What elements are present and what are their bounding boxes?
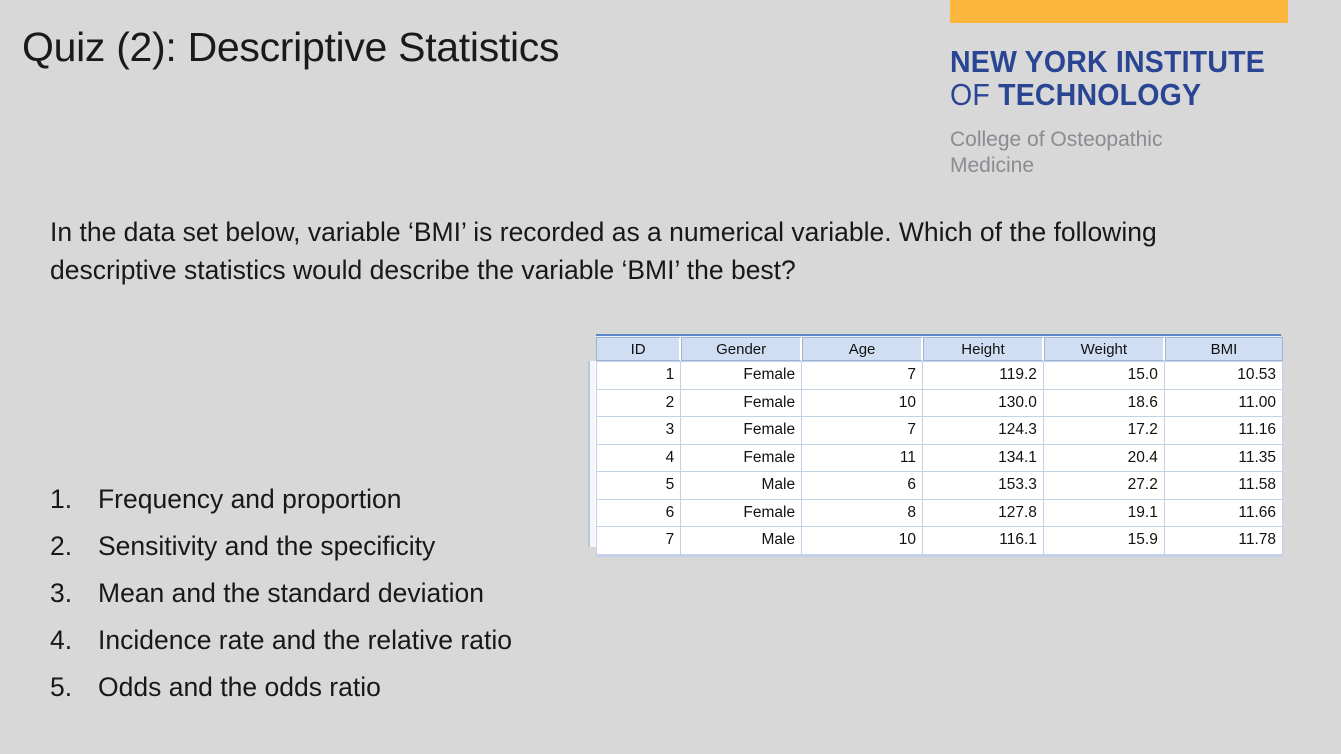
row-handle[interactable] xyxy=(588,520,596,547)
cell-id[interactable]: 7 xyxy=(596,527,681,555)
cell-height[interactable]: 153.3 xyxy=(923,472,1044,500)
cell-height[interactable]: 116.1 xyxy=(923,527,1044,555)
table-row[interactable]: 1 Female 7 119.2 15.0 10.53 xyxy=(596,361,1283,390)
cell-age[interactable]: 7 xyxy=(802,417,923,445)
option-number: 2. xyxy=(50,531,98,562)
table-row[interactable]: 6 Female 8 127.8 19.1 11.66 xyxy=(596,500,1283,528)
cell-weight[interactable]: 15.0 xyxy=(1044,361,1165,390)
cell-height[interactable]: 119.2 xyxy=(923,361,1044,390)
cell-gender[interactable]: Female xyxy=(681,500,802,528)
logo-subtitle: College of Osteopathic Medicine xyxy=(950,127,1240,179)
option-label: Odds and the odds ratio xyxy=(98,672,690,703)
row-handle[interactable] xyxy=(588,467,596,494)
cell-weight[interactable]: 20.4 xyxy=(1044,445,1165,473)
data-table-panel: ID Gender Age Height Weight BMI 1 Female… xyxy=(588,334,1283,560)
cell-bmi[interactable]: 11.78 xyxy=(1165,527,1283,555)
cell-id[interactable]: 2 xyxy=(596,390,681,418)
list-item[interactable]: 4. Incidence rate and the relative ratio xyxy=(50,625,690,672)
column-header-weight[interactable]: Weight xyxy=(1044,337,1165,361)
row-handle[interactable] xyxy=(588,361,596,388)
logo-name-line1: NEW YORK INSTITUTE xyxy=(950,45,1263,78)
cell-age[interactable]: 11 xyxy=(802,445,923,473)
table-row[interactable]: 3 Female 7 124.3 17.2 11.16 xyxy=(596,417,1283,445)
cell-id[interactable]: 6 xyxy=(596,500,681,528)
row-handle[interactable] xyxy=(588,494,596,521)
option-number: 1. xyxy=(50,484,98,515)
bmi-data-table: ID Gender Age Height Weight BMI 1 Female… xyxy=(596,337,1283,555)
table-header-row: ID Gender Age Height Weight BMI xyxy=(596,337,1283,361)
cell-height[interactable]: 124.3 xyxy=(923,417,1044,445)
cell-bmi[interactable]: 11.58 xyxy=(1165,472,1283,500)
column-header-id[interactable]: ID xyxy=(596,337,681,361)
option-number: 4. xyxy=(50,625,98,656)
cell-bmi[interactable]: 11.16 xyxy=(1165,417,1283,445)
cell-weight[interactable]: 18.6 xyxy=(1044,390,1165,418)
cell-gender[interactable]: Female xyxy=(681,390,802,418)
list-item[interactable]: 3. Mean and the standard deviation xyxy=(50,578,690,625)
option-number: 3. xyxy=(50,578,98,609)
cell-bmi[interactable]: 11.00 xyxy=(1165,390,1283,418)
cell-height[interactable]: 130.0 xyxy=(923,390,1044,418)
cell-age[interactable]: 10 xyxy=(802,390,923,418)
row-handle-gutter xyxy=(588,337,596,555)
cell-age[interactable]: 8 xyxy=(802,500,923,528)
cell-weight[interactable]: 27.2 xyxy=(1044,472,1165,500)
cell-id[interactable]: 3 xyxy=(596,417,681,445)
cell-gender[interactable]: Female xyxy=(681,445,802,473)
cell-bmi[interactable]: 11.35 xyxy=(1165,445,1283,473)
option-label: Incidence rate and the relative ratio xyxy=(98,625,690,656)
row-handle[interactable] xyxy=(588,388,596,415)
cell-id[interactable]: 4 xyxy=(596,445,681,473)
cell-height[interactable]: 127.8 xyxy=(923,500,1044,528)
cell-gender[interactable]: Male xyxy=(681,472,802,500)
cell-age[interactable]: 7 xyxy=(802,361,923,390)
column-header-height[interactable]: Height xyxy=(923,337,1044,361)
logo-name-line2: OF TECHNOLOGY xyxy=(950,78,1263,111)
table-row[interactable]: 4 Female 11 134.1 20.4 11.35 xyxy=(596,445,1283,473)
question-text: In the data set below, variable ‘BMI’ is… xyxy=(50,213,1230,289)
table-row[interactable]: 5 Male 6 153.3 27.2 11.58 xyxy=(596,472,1283,500)
cell-weight[interactable]: 17.2 xyxy=(1044,417,1165,445)
cell-weight[interactable]: 19.1 xyxy=(1044,500,1165,528)
column-header-bmi[interactable]: BMI xyxy=(1165,337,1283,361)
option-number: 5. xyxy=(50,672,98,703)
cell-height[interactable]: 134.1 xyxy=(923,445,1044,473)
table-row[interactable]: 2 Female 10 130.0 18.6 11.00 xyxy=(596,390,1283,418)
column-header-age[interactable]: Age xyxy=(802,337,923,361)
column-header-gender[interactable]: Gender xyxy=(681,337,802,361)
option-label: Mean and the standard deviation xyxy=(98,578,690,609)
cell-age[interactable]: 6 xyxy=(802,472,923,500)
cell-age[interactable]: 10 xyxy=(802,527,923,555)
cell-id[interactable]: 5 xyxy=(596,472,681,500)
list-item[interactable]: 5. Odds and the odds ratio xyxy=(50,672,690,719)
logo-orange-bar xyxy=(950,0,1288,23)
cell-weight[interactable]: 15.9 xyxy=(1044,527,1165,555)
logo-name-of: OF xyxy=(950,77,998,112)
nyit-logo: NEW YORK INSTITUTE OF TECHNOLOGY College… xyxy=(950,0,1290,179)
cell-bmi[interactable]: 10.53 xyxy=(1165,361,1283,390)
gutter-header xyxy=(588,337,596,361)
row-handle[interactable] xyxy=(588,441,596,468)
logo-name-technology: TECHNOLOGY xyxy=(998,77,1201,112)
cell-id[interactable]: 1 xyxy=(596,361,681,390)
row-handle[interactable] xyxy=(588,414,596,441)
cell-gender[interactable]: Female xyxy=(681,417,802,445)
cell-gender[interactable]: Female xyxy=(681,361,802,390)
logo-institute-name: NEW YORK INSTITUTE OF TECHNOLOGY xyxy=(950,45,1263,111)
cell-gender[interactable]: Male xyxy=(681,527,802,555)
page-title: Quiz (2): Descriptive Statistics xyxy=(22,22,559,72)
table-row[interactable]: 7 Male 10 116.1 15.9 11.78 xyxy=(596,527,1283,555)
table-bottom-cap xyxy=(588,557,1283,560)
cell-bmi[interactable]: 11.66 xyxy=(1165,500,1283,528)
